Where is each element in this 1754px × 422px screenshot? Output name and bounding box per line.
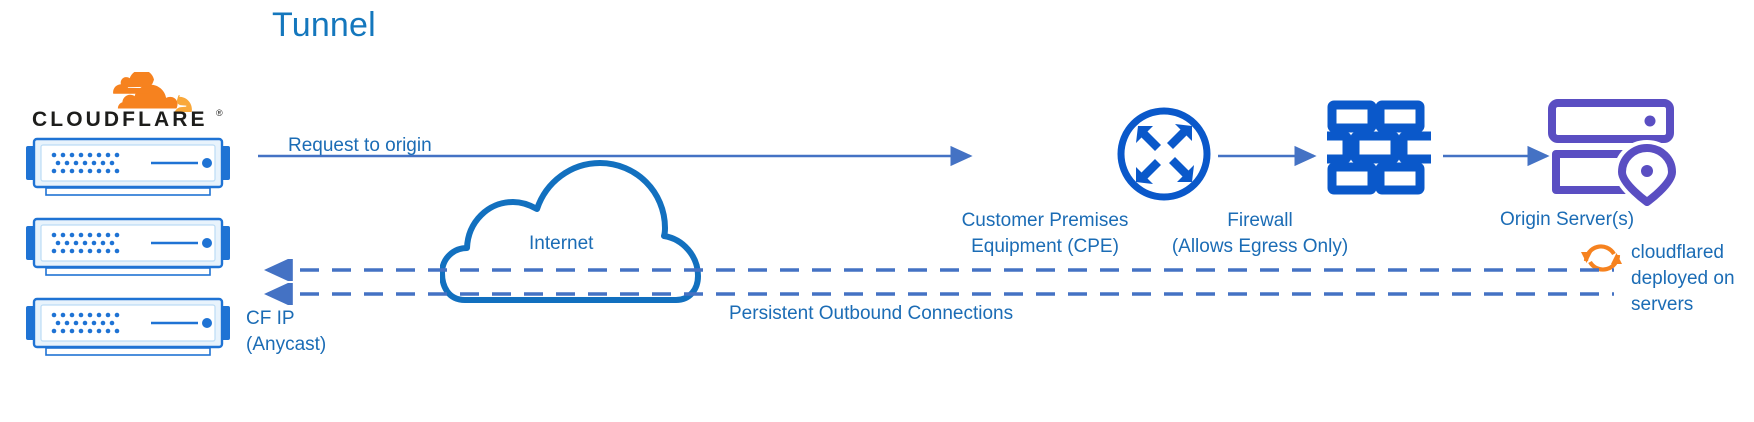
- origin-servers-icon: [1546, 98, 1686, 206]
- cpe-to-firewall-arrow: [1218, 145, 1328, 167]
- label-cpe-line1: Customer Premises: [925, 208, 1165, 234]
- label-origin-servers: Origin Server(s): [1500, 208, 1700, 231]
- label-cloudflared-deployed: cloudflared deployed on servers: [1631, 240, 1751, 318]
- label-cpe-line2: Equipment (CPE): [925, 234, 1165, 260]
- label-cloudflared-line3: servers: [1631, 292, 1751, 318]
- firewall-to-origin-arrow: [1443, 145, 1563, 167]
- label-internet: Internet: [529, 232, 593, 255]
- label-cloudflared-line1: cloudflared: [1631, 240, 1751, 266]
- label-cf-ip-anycast: CF IP (Anycast): [246, 306, 326, 358]
- registered-mark: ®: [216, 108, 223, 118]
- label-request-to-origin: Request to origin: [288, 134, 432, 157]
- page-title: Tunnel: [272, 6, 376, 45]
- tunnel-architecture-diagram: Tunnel CLOUDFLARE ®: [0, 0, 1754, 422]
- label-persistent-outbound-connections: Persistent Outbound Connections: [729, 302, 1013, 325]
- label-cf-ip-line2: (Anycast): [246, 332, 326, 358]
- cloudflare-wordmark: CLOUDFLARE: [32, 108, 208, 132]
- label-customer-premises-equipment: Customer Premises Equipment (CPE): [925, 208, 1165, 260]
- customer-premises-equipment-icon: [1114, 104, 1214, 204]
- cloudflare-logo: CLOUDFLARE ®: [30, 72, 230, 134]
- label-cloudflared-line2: deployed on: [1631, 266, 1751, 292]
- label-firewall: Firewall (Allows Egress Only): [1140, 208, 1380, 260]
- label-cf-ip-line1: CF IP: [246, 306, 326, 332]
- cloudflare-edge-server-3: [22, 296, 236, 368]
- label-firewall-line2: (Allows Egress Only): [1140, 234, 1380, 260]
- firewall-brick-wall-icon: [1327, 100, 1431, 198]
- cloudflare-edge-server-2: [22, 216, 236, 288]
- cloudflare-edge-server-1: [22, 136, 236, 208]
- cloudflare-cloud-icon: [30, 72, 230, 112]
- label-firewall-line1: Firewall: [1140, 208, 1380, 234]
- persistent-outbound-connection-top: [258, 259, 1618, 281]
